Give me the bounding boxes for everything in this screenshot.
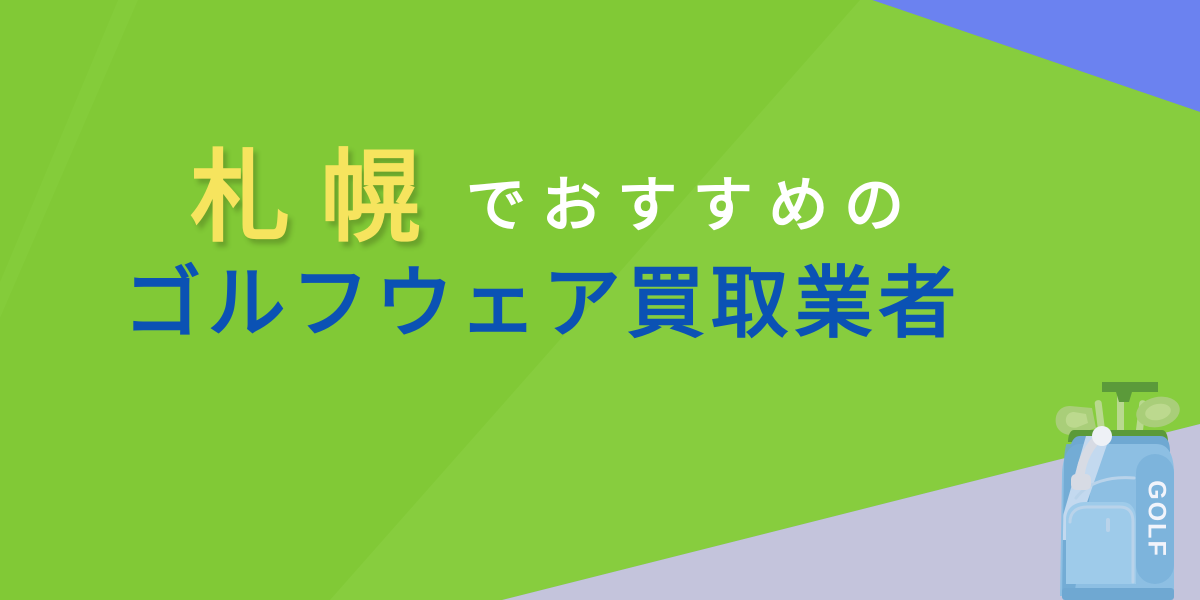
headline-line-1-suffix: でおすすめの [450,176,919,236]
headline-city-emphasis: 札幌 [160,148,450,248]
headline-group: 札幌でおすすめの ゴルフウェア買取業者 [0,148,1080,342]
bag-base [1062,588,1174,600]
promo-banner: 札幌でおすすめの ゴルフウェア買取業者 [0,0,1200,600]
headline-line-2: ゴルフウェア買取業者 [0,264,1080,342]
bag-strap-clip-ring [1092,426,1112,446]
headline-line-1: 札幌でおすすめの [0,148,1080,248]
golf-bag-illustration: GOLF [1040,370,1200,600]
club-head-middle-putter [1102,382,1158,392]
bag-strap-clip-buckle [1071,474,1091,490]
bag-pocket-zipper-pull [1106,518,1110,532]
bag-golf-label: GOLF [1142,480,1170,557]
bag-front-pocket [1066,502,1136,584]
bag-body-group: GOLF [1056,436,1174,600]
